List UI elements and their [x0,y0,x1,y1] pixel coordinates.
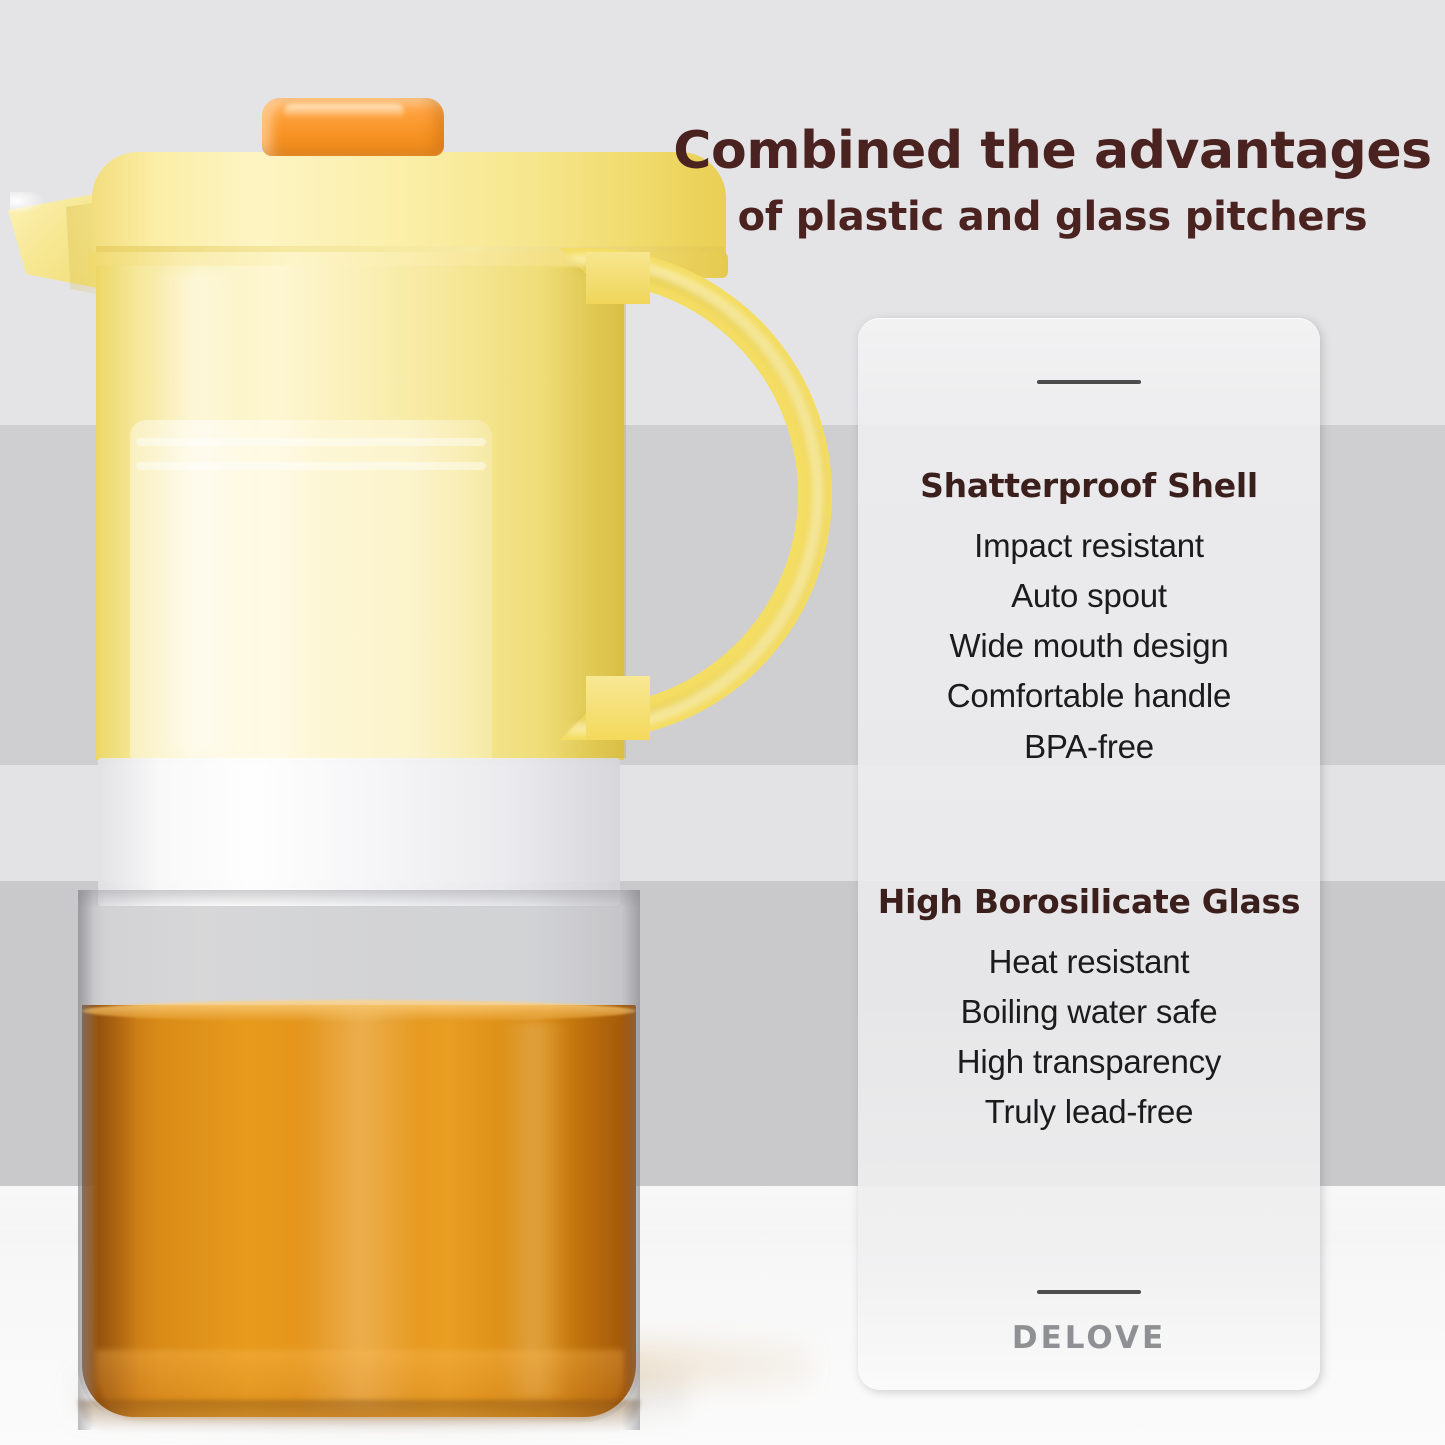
feature-line: Truly lead-free [858,1087,1320,1137]
feature-block-high-borosilicate-glass: High Borosilicate Glass Heat resistant B… [858,882,1320,1138]
pitcher-glass-edge-right [622,890,640,1430]
pitcher-handle-joint-bottom [586,676,650,740]
feature-title: Shatterproof Shell [858,466,1320,505]
feature-card: Shatterproof Shell Impact resistant Auto… [858,318,1320,1390]
pitcher-handle-joint-top [586,252,650,304]
feature-line: Heat resistant [858,937,1320,987]
brand-logo: DELOVE [1012,1320,1166,1356]
pitcher-spout-tip [10,192,44,214]
feature-line: Wide mouth design [858,621,1320,671]
pitcher-glass-rim [78,890,640,908]
feature-line: High transparency [858,1037,1320,1087]
pitcher-glass-bottom [78,1400,640,1432]
headline-secondary: of plastic and glass pitchers [660,194,1445,240]
pitcher-handle-highlight [566,254,824,734]
feature-line: Boiling water safe [858,987,1320,1037]
feature-line: Impact resistant [858,521,1320,571]
pitcher-shell-highlight [150,270,242,756]
headline-group: Combined the advantages of plastic and g… [660,122,1445,240]
feature-line: Auto spout [858,571,1320,621]
pitcher-lid-knob-gloss [284,104,404,119]
feature-title: High Borosilicate Glass [858,882,1320,921]
feature-line: Comfortable handle [858,671,1320,721]
product-marketing-image: Combined the advantages of plastic and g… [0,0,1445,1445]
feature-line: BPA-free [858,722,1320,772]
headline-primary: Combined the advantages [660,122,1445,180]
pitcher-liquid-highlight [500,1020,570,1400]
pitcher-glass-neck [98,758,620,906]
feature-block-shatterproof-shell: Shatterproof Shell Impact resistant Auto… [858,466,1320,772]
card-divider-top [1037,380,1141,384]
pitcher-glass-edge-left [78,890,94,1430]
card-divider-bottom [1037,1290,1141,1294]
